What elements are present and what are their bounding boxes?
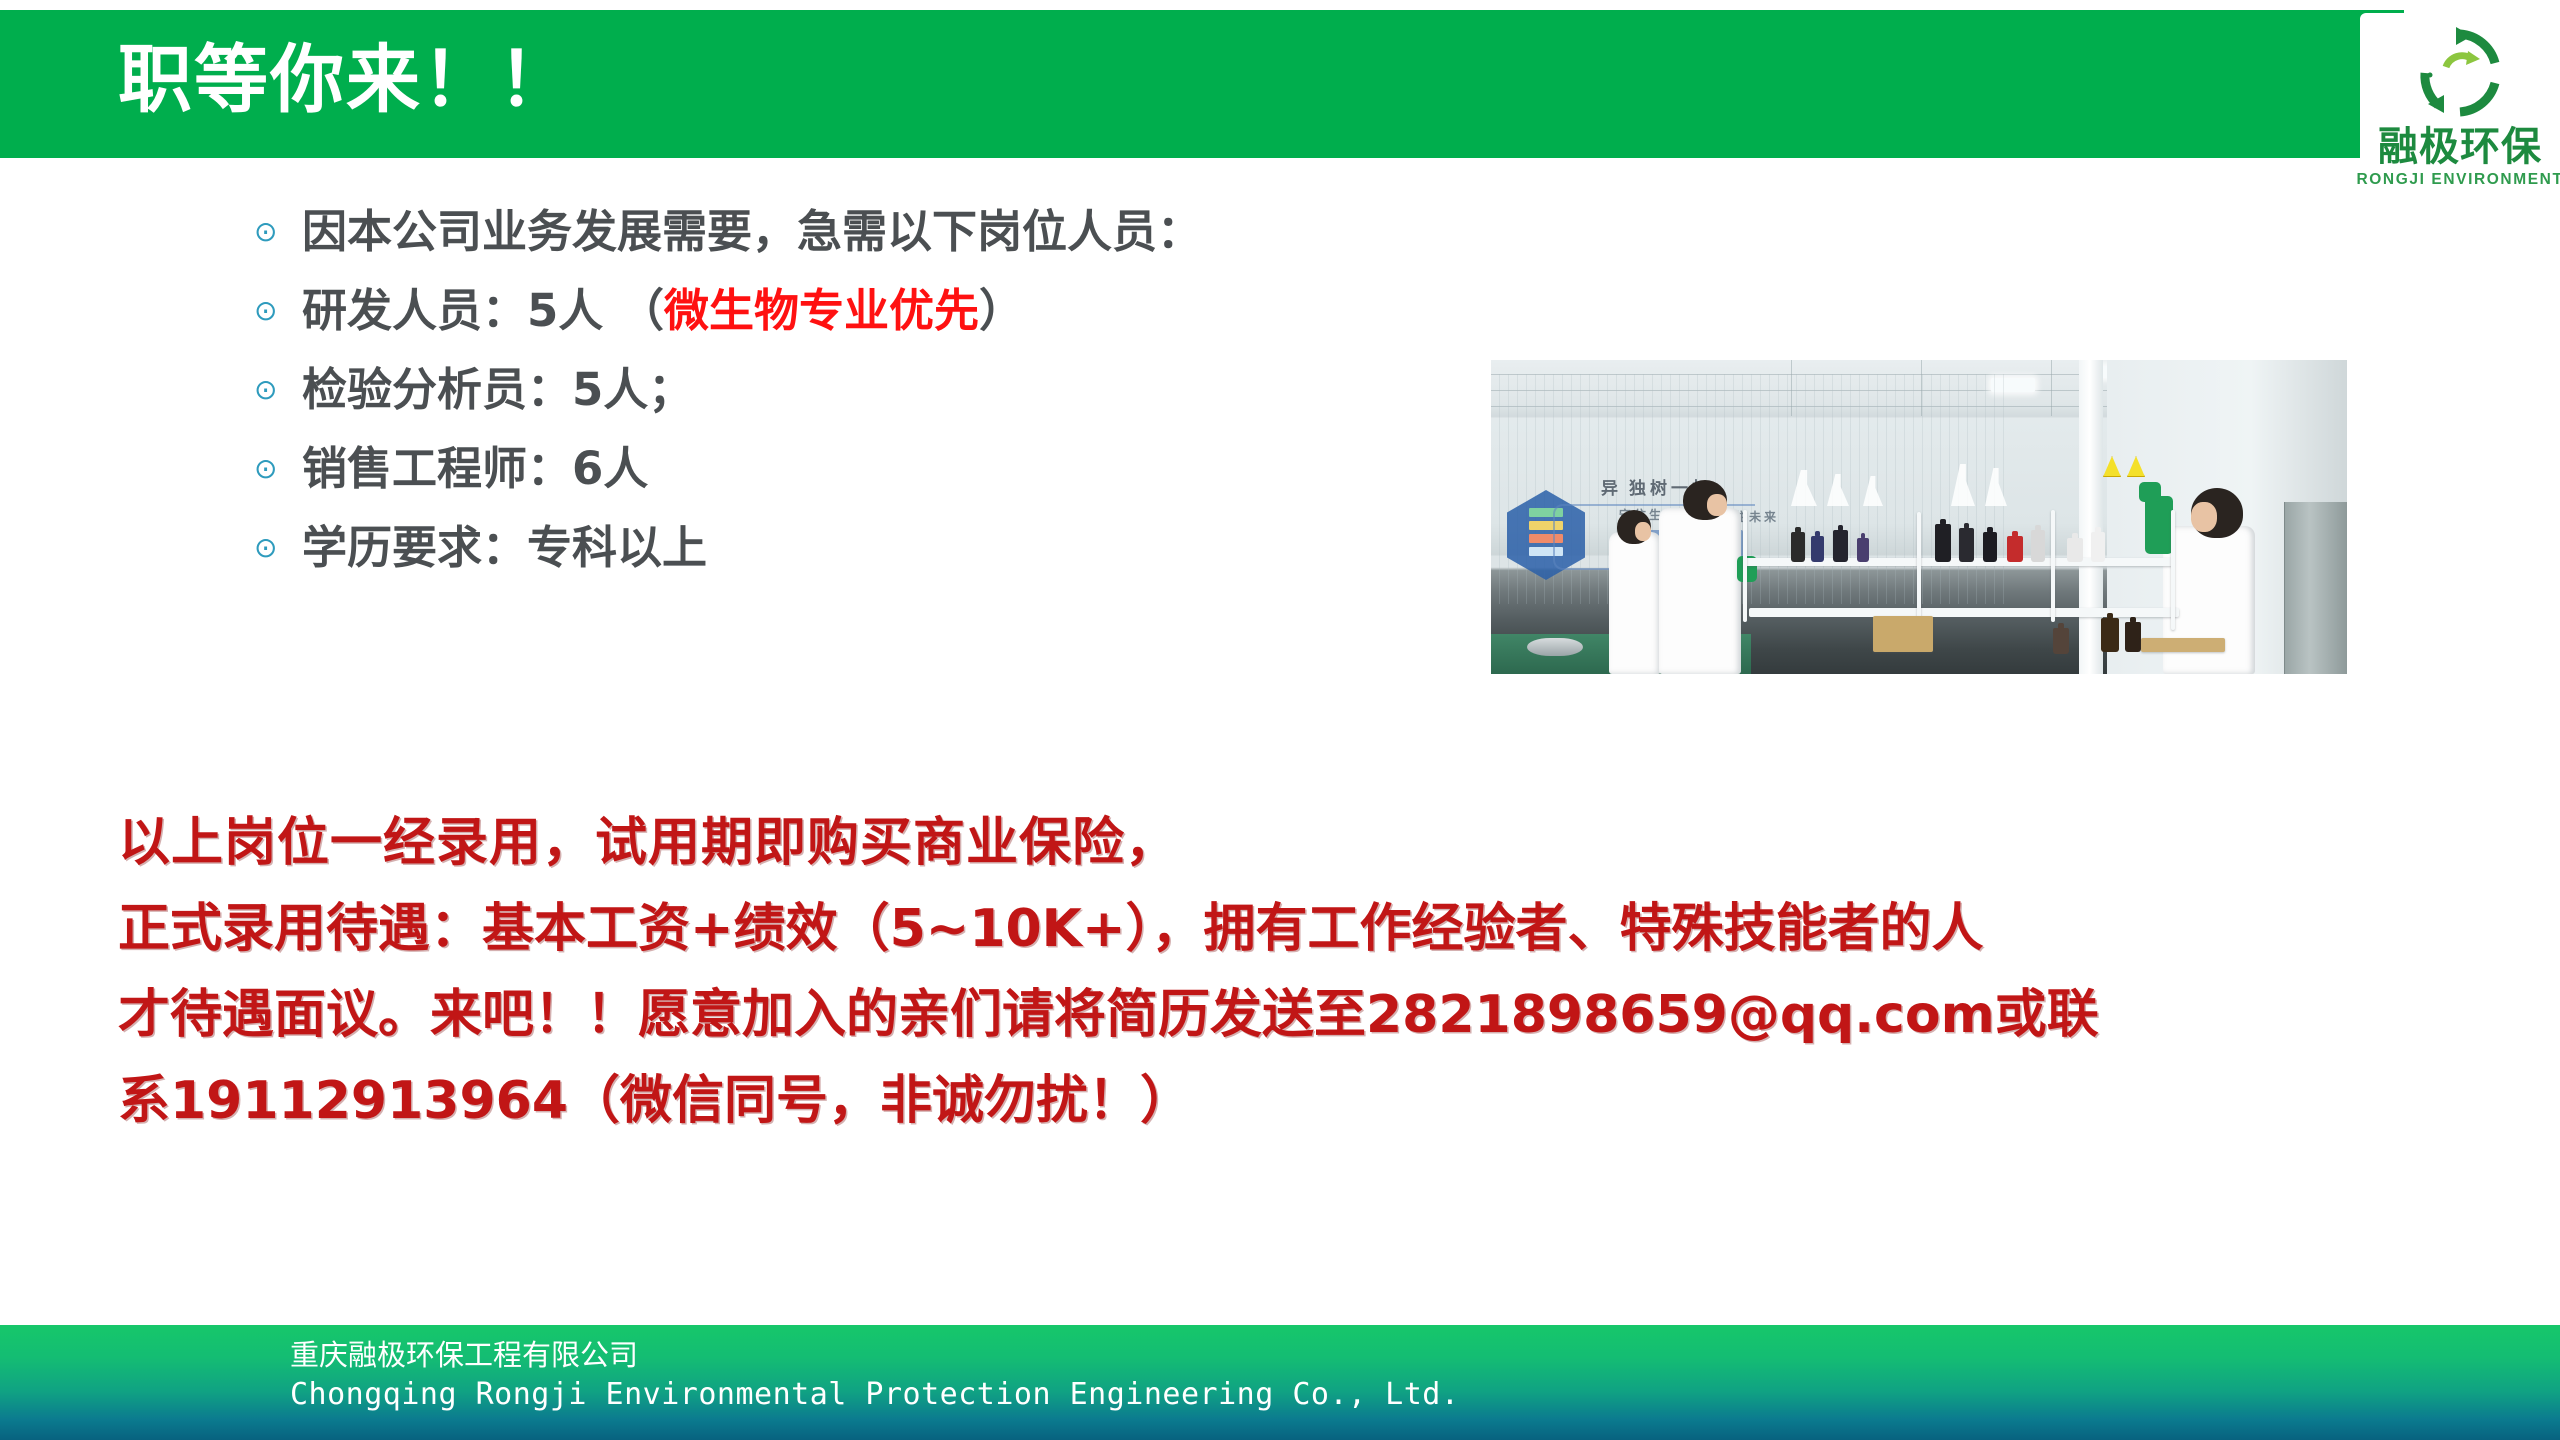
logo-name-cn: 融极环保 <box>2378 127 2542 167</box>
notice-line-4: 系19112913964（微信同号，非诚勿扰！） <box>118 1058 2448 1144</box>
storage-cabinet <box>2284 502 2347 674</box>
notice-line-3: 才待遇面议。来吧！！愿意加入的亲们请将简历发送至2821898659@qq.co… <box>118 972 2448 1058</box>
list-item: ⊙ 学历要求：专科以上 <box>250 512 1510 583</box>
list-item: ⊙ 检验分析员：5人； <box>250 354 1510 425</box>
list-item-label: 因本公司业务发展需要，急需以下岗位人员： <box>302 208 1202 255</box>
researcher-left <box>1609 532 1661 674</box>
list-item-label: 销售工程师：6人 <box>302 445 648 492</box>
list-item-label: 检验分析员：5人； <box>302 366 693 413</box>
header-banner: 职等你来！！ <box>0 10 2404 158</box>
notice-line-1: 以上岗位一经录用，试用期即购买商业保险， <box>118 800 2448 886</box>
photo-scene: 异 独树一帜 守住生态 双碳守住未来 <box>1491 360 2347 674</box>
footer-company-cn: 重庆融极环保工程有限公司 <box>290 1338 638 1373</box>
bullet-circle-dot-icon: ⊙ <box>250 455 302 483</box>
recruitment-notice: 以上岗位一经录用，试用期即购买商业保险， 正式录用待遇：基本工资+绩效（5~10… <box>118 800 2448 1144</box>
page-title: 职等你来！！ <box>118 38 574 123</box>
recycle-circle-icon <box>2408 21 2512 125</box>
footer-company-en: Chongqing Rongji Environmental Protectio… <box>290 1377 1459 1413</box>
list-item: ⊙ 研发人员：5人 （微生物专业优先） <box>250 275 1510 346</box>
laboratory-photo: 异 独树一帜 守住生态 双碳守住未来 <box>1491 360 2347 674</box>
footer-bar: 重庆融极环保工程有限公司 Chongqing Rongji Environmen… <box>0 1325 2560 1440</box>
bullet-circle-dot-icon: ⊙ <box>250 218 302 246</box>
lab-stool <box>1527 638 1583 674</box>
list-item: ⊙ 销售工程师：6人 <box>250 433 1510 504</box>
wall-slogan-1: 异 <box>1601 474 1622 499</box>
slide-canvas: 职等你来！！ 融极环保 RONGJI E <box>0 0 2560 1440</box>
job-rd-prefix: 研发人员：5人 （ <box>302 284 664 337</box>
list-item-label: 研发人员：5人 （微生物专业优先） <box>302 287 1024 334</box>
researcher-center <box>1659 508 1741 674</box>
job-rd-suffix: ） <box>979 284 1024 337</box>
notice-line-2: 正式录用待遇：基本工资+绩效（5~10K+），拥有工作经验者、特殊技能者的人 <box>118 886 2448 972</box>
bullet-circle-dot-icon: ⊙ <box>250 376 302 404</box>
list-item-label: 学历要求：专科以上 <box>302 524 707 571</box>
job-rd-highlight: 微生物专业优先 <box>664 284 979 337</box>
job-list: ⊙ 因本公司业务发展需要，急需以下岗位人员： ⊙ 研发人员：5人 （微生物专业优… <box>250 196 1510 583</box>
list-item: ⊙ 因本公司业务发展需要，急需以下岗位人员： <box>250 196 1510 267</box>
company-logo: 融极环保 RONGJI ENVIRONMENT <box>2360 13 2560 206</box>
bullet-circle-dot-icon: ⊙ <box>250 297 302 325</box>
bullet-circle-dot-icon: ⊙ <box>250 534 302 562</box>
logo-name-en: RONGJI ENVIRONMENT <box>2356 172 2560 188</box>
